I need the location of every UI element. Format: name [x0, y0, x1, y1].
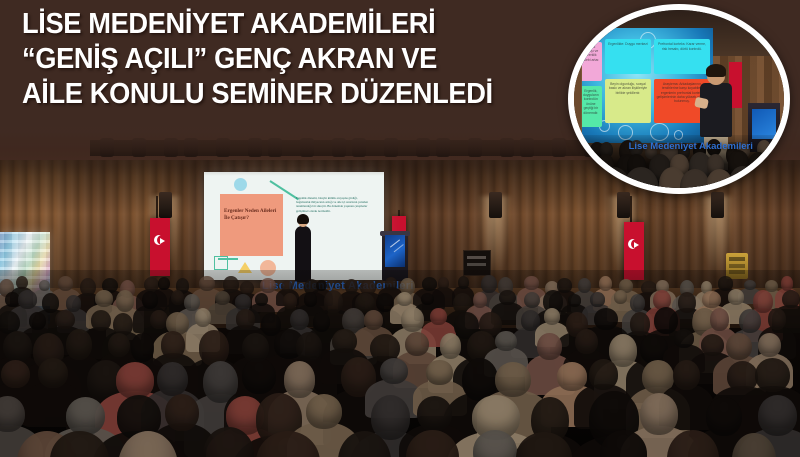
audience-member-head [701, 334, 724, 356]
audience-member-head [290, 309, 309, 331]
slide-decor-line [218, 258, 238, 260]
audience-member-head [380, 358, 408, 384]
audience-member-head [753, 290, 772, 313]
audience-member-head [38, 358, 68, 388]
turkish-flag [150, 218, 170, 276]
slide-body-text: Ergenlik dönemi, bireyin kimlik arayışın… [296, 196, 372, 213]
audience-member-head [473, 292, 487, 308]
audience-member-head [758, 333, 781, 357]
audience-member-head [116, 362, 155, 398]
presenter-hair [297, 214, 309, 224]
inset-photo: Kimlik arayışı ve özerklik talebi artar.… [568, 4, 790, 194]
audience-member-head [537, 333, 561, 360]
slide-text-box: Beyin olgunluğu, sosyal baskı ve akran i… [605, 79, 652, 123]
audience-member-head [236, 309, 256, 328]
audience-member-head [654, 307, 678, 334]
audience-member-head [80, 278, 96, 297]
audience-member-head [215, 291, 230, 305]
audience-member-head [283, 293, 297, 309]
slide-text-box: Kimlik arayışı ve özerklik talebi artar. [582, 42, 602, 81]
audience-member-head [640, 393, 678, 435]
audience-member-head [495, 362, 531, 397]
audience-member-head [768, 308, 787, 330]
audience-member-head [426, 360, 452, 384]
slide-title: Ergenler Neden Aileleri İle Çatışır? [224, 208, 280, 222]
audience-member-head [371, 395, 410, 440]
audience-member-head [710, 308, 729, 331]
audience-member-head [594, 308, 617, 330]
slide-title-box: Ergenler Neden Aileleri İle Çatışır? [220, 194, 283, 256]
audience-member-head [575, 329, 598, 354]
wall-sconce [489, 192, 502, 218]
audience-member-head [782, 290, 800, 309]
audience-member-head [481, 275, 496, 293]
audience-member-head [417, 396, 452, 431]
audience-member-head [171, 290, 184, 305]
audience-member-head [39, 280, 50, 292]
audience-member-head [91, 310, 111, 331]
audience-member-head [255, 293, 268, 306]
audience-member-head [557, 362, 587, 390]
audience-member-head [332, 329, 356, 353]
audience-member-head [240, 281, 254, 296]
audience-member-head [614, 290, 628, 304]
audience-member-head [142, 291, 158, 309]
inset-slide: Kimlik arayışı ve özerklik talebi artar.… [582, 28, 712, 144]
audience-member-head [304, 292, 318, 307]
audience-member-head [18, 290, 37, 309]
audience-member-head [1, 360, 30, 388]
audience-member-head [108, 333, 130, 357]
audience-member-head [58, 276, 73, 291]
audience-member-head [29, 312, 46, 330]
audience-member-head [578, 278, 591, 293]
speaker-body [700, 83, 732, 137]
audience-member-head [385, 277, 397, 289]
audience-member-head [158, 277, 170, 290]
wall-sconce [159, 192, 172, 218]
audience-member-head [590, 292, 605, 306]
audience-member-head [630, 312, 650, 336]
audience-member-head [702, 291, 720, 308]
audience-member-head [364, 310, 384, 330]
audience-member-head [557, 278, 572, 293]
audience-member-head [260, 278, 276, 293]
audience-member-head [726, 333, 752, 360]
audience-member-head [728, 289, 744, 304]
audience-member-head [313, 312, 330, 332]
audience-member-head [544, 308, 561, 325]
speaker-hair [706, 64, 726, 77]
audience-member-head [157, 362, 188, 396]
audience-member-head [630, 294, 645, 312]
projection-screen: Ergenler Neden Aileleri İle Çatışır? Erg… [204, 172, 384, 280]
audience-member-head [673, 360, 700, 390]
headline-line-1: LİSE MEDENİYET AKADEMİLERİ [22, 7, 537, 42]
audience-member-head [495, 331, 516, 351]
audience-member-head [150, 310, 167, 329]
audience-member-head [744, 280, 756, 291]
audience-member-head [674, 329, 695, 348]
audience-member-head [430, 308, 447, 325]
audience-member-head [324, 290, 344, 313]
news-card: Ergenler Neden Aileleri İle Çatışır? Erg… [0, 0, 800, 457]
audience-member-head [3, 331, 32, 362]
audience-member-head [440, 333, 462, 359]
audience-member-head [739, 309, 761, 333]
audience-member-head [306, 394, 342, 429]
audience-member-head [397, 292, 412, 306]
audience-member-head [161, 331, 185, 358]
slide-decor-circle [234, 178, 247, 191]
audience-member-head [438, 277, 449, 290]
audience-member-head [199, 276, 215, 291]
wall-sconce [617, 192, 630, 218]
audience-member-head [421, 293, 434, 306]
audience-member-head [781, 276, 793, 290]
audience-member-head [284, 361, 315, 397]
audience-member-head [727, 361, 759, 393]
audience-member-head [345, 279, 358, 294]
audience-member-head [678, 292, 696, 313]
slide-text-box: Ergenlikte: Duygu merkezi [605, 39, 652, 74]
lectern-screen [385, 235, 405, 267]
audience-member-head [66, 397, 105, 435]
audience-member-head [758, 395, 797, 436]
audience-member-head [131, 333, 155, 361]
audience-member-head [165, 394, 199, 431]
audience-member-head [199, 330, 229, 366]
headline-line-3: AİLE KONULU SEMİNER DÜZENLEDİ [22, 77, 537, 112]
audience-member-head [42, 293, 60, 313]
audience-member-head [281, 281, 292, 292]
audience-member-head [116, 290, 135, 312]
audience-member-head [599, 276, 612, 291]
headline-line-2: “GENİŞ AÇILI” GENÇ AKRAN VE [22, 42, 537, 77]
audience-member-head [66, 329, 92, 360]
slide-text-box: Ergenlik, duyguların kontrolün önüne geç… [582, 86, 602, 128]
audience-member-head [524, 292, 540, 309]
audience-member-head [242, 358, 276, 395]
audience-member-head [524, 276, 538, 290]
inset-watermark: Lise Medeniyet Akademileri [629, 141, 759, 152]
audience-member-head [589, 359, 618, 389]
audience-member-head [458, 276, 469, 289]
audience-member-head [223, 276, 239, 293]
audience-member-head [16, 276, 28, 290]
audience [0, 270, 800, 457]
page-title: LİSE MEDENİYET AKADEMİLERİ “GENİŞ AÇILI”… [22, 7, 537, 112]
audience-member-head [66, 295, 82, 312]
audience-member-head [401, 307, 424, 332]
audience-member-head [568, 294, 582, 307]
audience-member-head [718, 276, 734, 291]
audience-member-head [405, 332, 429, 356]
audience-member-head [95, 290, 113, 307]
audience-member-head [195, 308, 211, 327]
audience-member-head [296, 332, 323, 361]
wall-sconce [711, 192, 724, 218]
audience-member-head [499, 290, 515, 305]
audience-member-head [755, 358, 790, 392]
audience-member-head [706, 397, 742, 436]
